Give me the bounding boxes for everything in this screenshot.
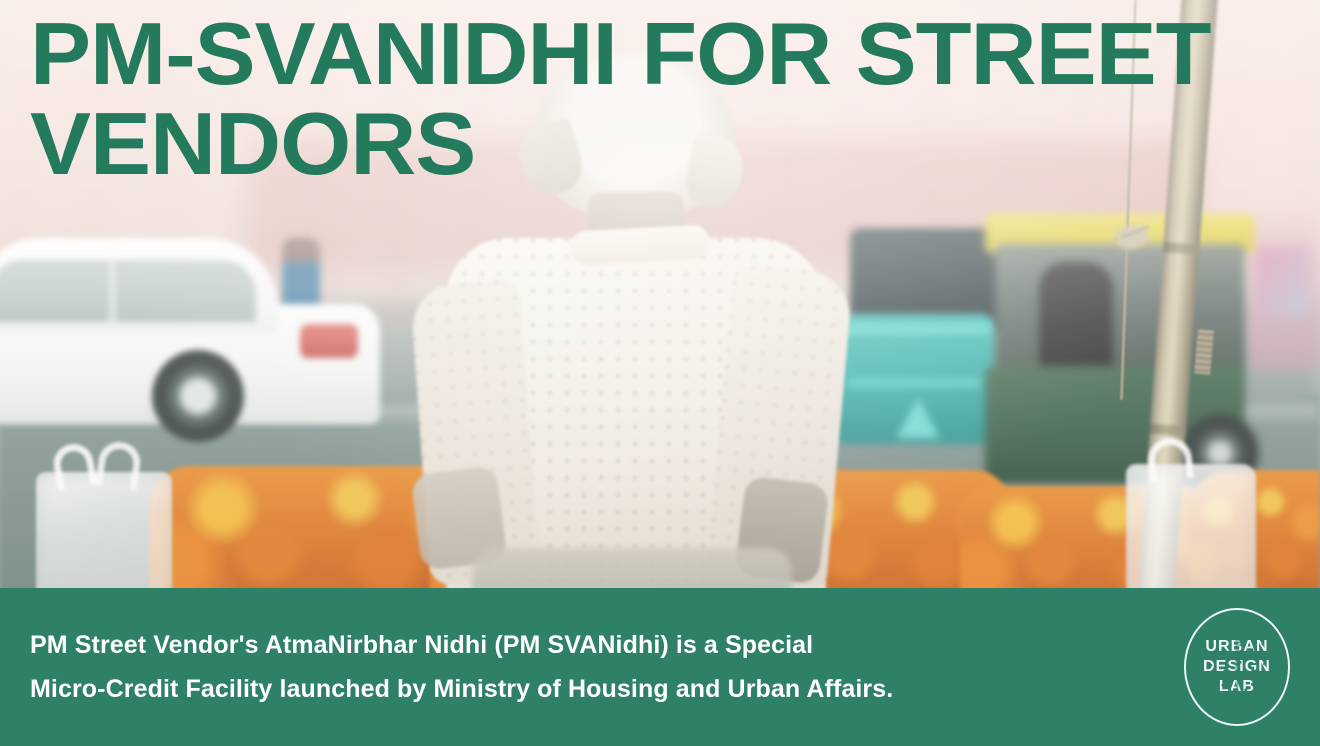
string-knot	[1110, 219, 1154, 254]
wall-poster-inner	[1256, 246, 1310, 316]
green-auto-rickshaw	[985, 214, 1255, 484]
car-window-pillar	[110, 262, 115, 322]
plastic-bag-right	[1126, 464, 1256, 588]
bottom-banner: PM Street Vendor's AtmaNirbhar Nidhi (PM…	[0, 588, 1320, 746]
white-car	[0, 232, 380, 442]
rickshaw-driver	[1039, 262, 1113, 372]
logo-line-design: DESIGN	[1203, 659, 1271, 675]
car-wheel-rear	[152, 350, 244, 442]
car-window	[0, 260, 256, 322]
bamboo-node-upper	[1163, 242, 1200, 255]
poster-title: PM-SVANIDHI FOR STREET VENDORS	[30, 9, 1309, 189]
urban-design-lab-logo[interactable]: URBAN DESIGN LAB	[1184, 608, 1290, 726]
vendor-lower-body	[472, 548, 792, 588]
logo-line-urban: URBAN	[1205, 639, 1268, 655]
banner-description-text: PM Street Vendor's AtmaNirbhar Nidhi (PM…	[30, 623, 893, 712]
poster-canvas: PM-SVANIDHI FOR STREET VENDORS PM Street…	[0, 0, 1320, 746]
plastic-bag-left	[36, 472, 172, 588]
bamboo-node-lower	[1150, 424, 1187, 437]
car-taillight	[300, 324, 358, 358]
logo-line-lab: LAB	[1219, 679, 1255, 695]
